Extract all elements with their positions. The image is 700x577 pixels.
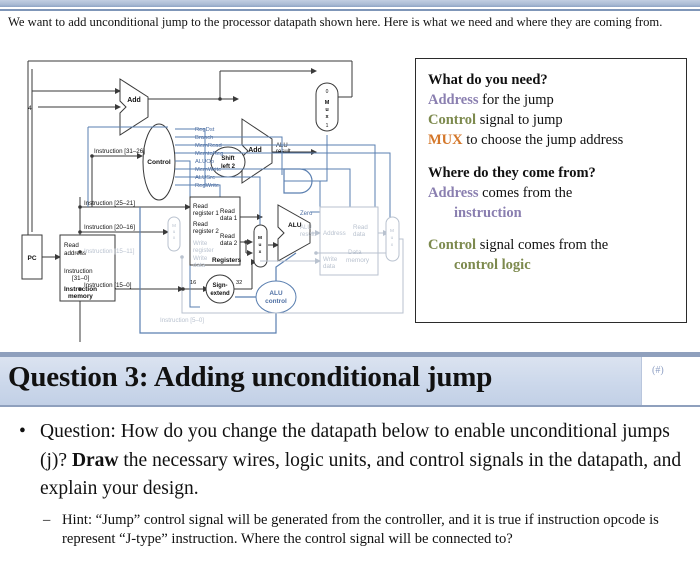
sign-extend-label-1: Sign- [213, 283, 228, 289]
mem-to-reg-mux: M u x [386, 217, 399, 261]
read-data1-label-1: Read [220, 208, 235, 215]
mux-top-u-label: u [325, 107, 328, 113]
write-data-reg-label-2: data [193, 262, 206, 269]
registers-label: Registers [212, 257, 242, 264]
write-data-reg-label-1: Write [193, 255, 208, 262]
sign-extend-unit: Sign- extend [206, 275, 234, 303]
slide-number-placeholder: (#) [641, 357, 700, 405]
write-register-label-2: register [193, 247, 214, 254]
read-register1-label-2: register 1 [193, 210, 219, 217]
spacer-2 [428, 223, 674, 235]
mux-mid-m-label: M [390, 228, 394, 234]
requirement-address: Address for the jump [428, 90, 674, 110]
source-address: Address comes from the [428, 183, 674, 203]
top-header-rule [0, 9, 700, 11]
control-signal-alusrc: ALUSrc [195, 175, 215, 181]
alu-control-label-1: ALU [269, 290, 283, 297]
read-register2-label-1: Read [193, 221, 208, 228]
requirements-box: What do you need? Address for the jump C… [415, 58, 687, 323]
constant-four-label: 4 [28, 105, 32, 112]
mux-top-0-label: 0 [326, 89, 329, 95]
requirement-control: Control signal to jump [428, 110, 674, 130]
control-unit: Control [143, 124, 175, 200]
data-memory-writedata-label-2: data [323, 263, 336, 270]
instr-1511-label: Instruction [15–11] [84, 248, 135, 255]
data-memory-readdata-label-2: data [353, 231, 366, 238]
instruction-memory: Read address Instruction [31–0] Instruct… [60, 235, 115, 301]
control-signal-branch: Branch [195, 135, 213, 141]
read-data2-label-1: Read [220, 233, 235, 240]
alu-control-unit: ALU control [256, 281, 296, 313]
mux-mid-u-label: u [391, 236, 394, 241]
control-signal-aluop: ALUOp [195, 159, 214, 165]
bullet-hint-text: Hint: “Jump” control signal will be gene… [62, 512, 659, 548]
datapath-figure: 0 M u x 1 Add 4 Add ALU result [20, 57, 405, 342]
page-title: Question 3: Adding unconditional jump [8, 361, 492, 394]
instr-150-label: Instruction [15–0] [84, 282, 132, 289]
spacer [428, 150, 674, 162]
alu-unit: ALU Zero ALU result [278, 205, 315, 261]
sub-bullet-marker-icon: – [43, 511, 50, 531]
bullet-marker-icon: • [19, 418, 26, 447]
read-data2-label-2: data 2 [220, 240, 238, 247]
slide-root: We want to add unconditional jump to the… [0, 0, 700, 577]
bullet-question-part2: the necessary wires, logic units, and co… [40, 450, 681, 500]
bullet-hint: – Hint: “Jump” control signal will be ge… [10, 511, 690, 550]
data-memory-writedata-label-1: Write [323, 256, 338, 263]
bus-width-16-label: 16 [190, 280, 196, 286]
body-content: • Question: How do you change the datapa… [10, 418, 690, 550]
requirement-mux-key: MUX [428, 132, 463, 148]
source-address-key: Address [428, 185, 479, 201]
instr-3126-label: Instruction [31–26] [94, 148, 145, 155]
data-memory-readdata-label-1: Read [353, 224, 368, 231]
title-bottom-rule [0, 405, 700, 407]
instr-50-label: Instruction [5–0] [160, 317, 204, 324]
alu-result-label-1: ALU [300, 225, 312, 231]
branch-alu-result-label2: result [276, 149, 291, 155]
source-address-detail-text: instruction [454, 205, 522, 221]
pc-label: PC [27, 255, 36, 262]
control-signal-regdst: RegDst [195, 127, 215, 133]
mux-alu-x-label: x [259, 250, 262, 255]
bus-width-32-label: 32 [236, 280, 242, 286]
control-signal-memtoreg: MemtoReg [195, 151, 223, 157]
intro-paragraph: We want to add unconditional jump to the… [8, 13, 668, 32]
mux-alu-u-label: u [259, 243, 262, 248]
mux-reg-u-label: u [173, 229, 176, 234]
datapath-svg: 0 M u x 1 Add 4 Add ALU result [20, 57, 405, 342]
pc-source-mux: 0 M u x 1 [316, 83, 338, 131]
sources-heading: Where do they come from? [428, 165, 674, 182]
register-file: Read register 1 Read register 2 Write re… [190, 197, 242, 269]
source-control-detail-text: control logic [454, 257, 531, 273]
data-memory-label-2: memory [346, 257, 370, 264]
requirement-address-rest: for the jump [479, 92, 554, 108]
read-address-label-1: Read [64, 242, 79, 249]
source-control: Control signal comes from the [428, 235, 674, 255]
control-signal-memread: MemRead [195, 143, 222, 149]
mux-alu-m-label: M [258, 235, 262, 241]
read-data1-label-2: data 1 [220, 215, 238, 222]
read-address-label-2: address [64, 250, 86, 257]
requirements-heading: What do you need? [428, 72, 674, 89]
read-register2-label-2: register 2 [193, 228, 219, 235]
bullet-question: • Question: How do you change the datapa… [10, 418, 690, 504]
requirement-mux-rest: to choose the jump address [463, 132, 624, 148]
source-address-rest: comes from the [479, 185, 573, 201]
slide-title-bar: Question 3: Adding unconditional jump [0, 357, 700, 405]
adder-pc-label: Add [127, 97, 141, 104]
mux-reg-m-label: M [172, 223, 176, 228]
read-register1-label-1: Read [193, 203, 208, 210]
requirement-control-rest: signal to jump [476, 112, 563, 128]
instr-2521-label: Instruction [25–21] [84, 200, 135, 207]
control-signal-regwrite: RegWrite [195, 183, 219, 189]
alu-control-label-2: control [265, 298, 287, 305]
source-control-key: Control [428, 237, 476, 253]
mux-top-1-label: 1 [326, 123, 329, 129]
requirement-address-key: Address [428, 92, 479, 108]
data-memory: Address Read data Write data Data memory [320, 207, 378, 275]
instruction-memory-label-2: memory [68, 293, 93, 300]
instr-2016-label: Instruction [20–16] [84, 224, 135, 231]
requirement-control-key: Control [428, 112, 476, 128]
instr-310-label-1: Instruction [64, 268, 93, 275]
sign-extend-label-2: extend [210, 291, 230, 297]
requirement-mux: MUX to choose the jump address [428, 130, 674, 150]
bullet-question-bold: Draw [72, 450, 119, 471]
reg-dest-mux: M u x [168, 217, 180, 251]
control-signal-memwrite: MemWrite [195, 167, 221, 173]
slide-number-text: (#) [652, 365, 664, 376]
source-control-detail: control logic [428, 255, 674, 275]
source-address-detail: instruction [428, 203, 674, 223]
instr-310-label-2: [31–0] [72, 275, 89, 282]
control-unit-label: Control [147, 159, 171, 166]
data-memory-address-label: Address [323, 230, 346, 237]
write-register-label-1: Write [193, 240, 208, 247]
program-counter: PC [22, 235, 42, 279]
mux-top-m-label: M [325, 100, 330, 106]
source-control-rest: signal comes from the [476, 237, 608, 253]
